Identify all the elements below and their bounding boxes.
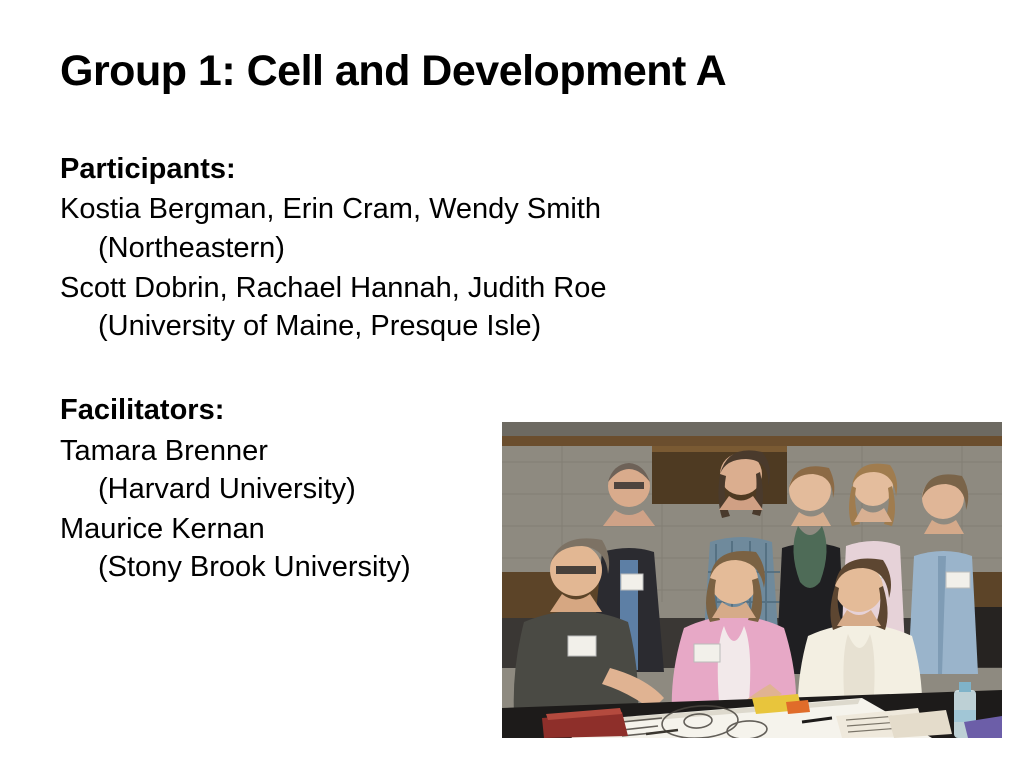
facilitator-1-name: Tamara Brenner bbox=[60, 435, 268, 467]
participant-group-2-affiliation: (University of Maine, Presque Isle) bbox=[60, 307, 760, 345]
page-title: Group 1: Cell and Development A bbox=[60, 48, 960, 95]
slide-canvas: Group 1: Cell and Development A Particip… bbox=[0, 0, 1024, 768]
participant-group-2-names: Scott Dobrin, Rachael Hannah, Judith Roe bbox=[60, 272, 606, 304]
group-photo-illustration bbox=[502, 422, 1002, 738]
participant-group-2: Scott Dobrin, Rachael Hannah, Judith Roe… bbox=[60, 269, 760, 346]
section-spacer bbox=[60, 347, 760, 391]
facilitator-2-name: Maurice Kernan bbox=[60, 513, 265, 545]
participant-group-1-affiliation: (Northeastern) bbox=[60, 229, 760, 267]
group-photo bbox=[502, 422, 1002, 738]
participants-heading: Participants: bbox=[60, 150, 760, 188]
participant-group-1: Kostia Bergman, Erin Cram, Wendy Smith (… bbox=[60, 190, 760, 267]
participant-group-1-names: Kostia Bergman, Erin Cram, Wendy Smith bbox=[60, 193, 601, 225]
